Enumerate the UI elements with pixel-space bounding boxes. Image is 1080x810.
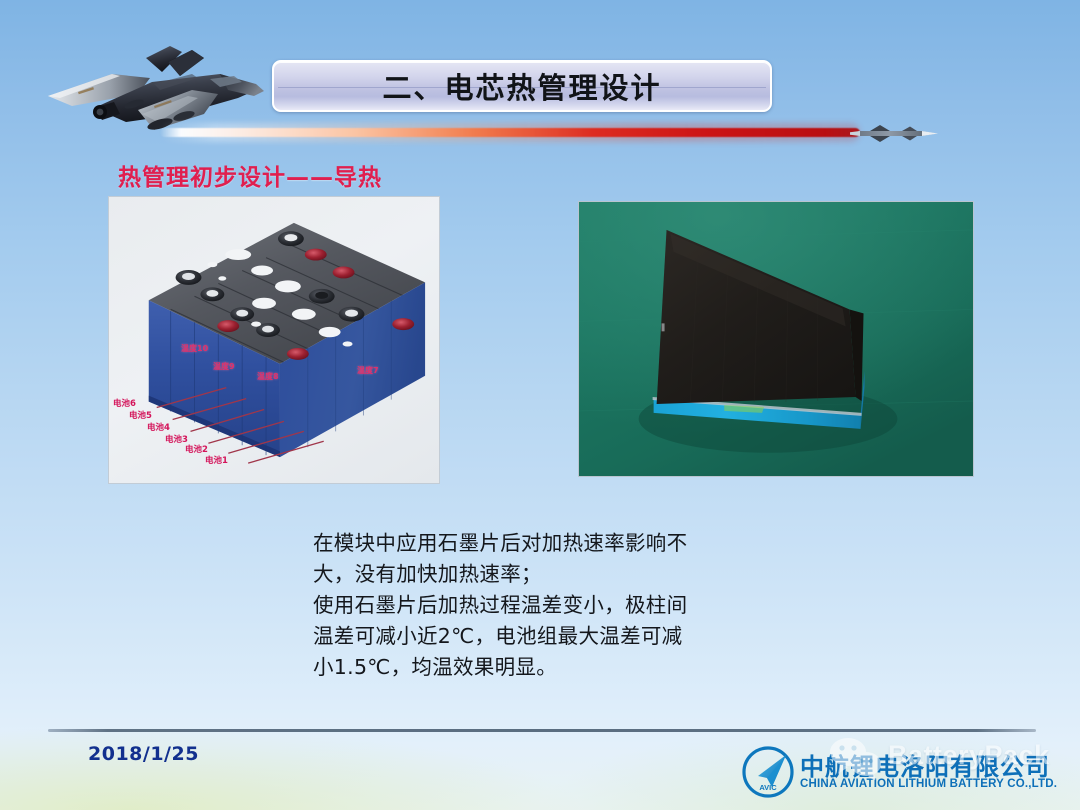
watermark-text: BatteryPack bbox=[888, 740, 1050, 771]
probe-label-7: 温度7 bbox=[357, 365, 379, 376]
slide-title-banner: 二、电芯热管理设计 bbox=[272, 60, 772, 112]
cell-label-5: 电池5 bbox=[129, 409, 152, 421]
body-line-1: 在模块中应用石墨片后对加热速率影响不 bbox=[313, 528, 783, 559]
body-paragraph: 在模块中应用石墨片后对加热速率影响不 大，没有加快加热速率； 使用石墨片后加热过… bbox=[313, 528, 783, 683]
probe-label-10: 温度10 bbox=[181, 343, 208, 354]
graphite-sheet-photo bbox=[578, 201, 974, 477]
cell-label-6: 电池6 bbox=[113, 397, 136, 409]
photo-svg bbox=[579, 202, 973, 477]
probe-label-8: 温度8 bbox=[257, 371, 279, 382]
probe-label-9: 温度9 bbox=[213, 361, 235, 372]
avic-logo-text: AVIC bbox=[759, 783, 777, 792]
cell-label-1: 电池1 bbox=[205, 454, 228, 466]
cell-label-4: 电池4 bbox=[147, 421, 170, 433]
avic-logo-icon: AVIC bbox=[742, 746, 794, 798]
body-line-4: 温差可减小近2℃，电池组最大温差可减 bbox=[313, 621, 783, 652]
missile-trail-graphic bbox=[160, 120, 940, 146]
battery-module-render: 电池6 电池5 电池4 电池3 电池2 电池1 温度10 温度9 温度8 温度7 bbox=[108, 196, 440, 484]
section-subtitle: 热管理初步设计——导热 bbox=[118, 158, 382, 192]
body-line-3: 使用石墨片后加热过程温差变小，极柱间 bbox=[313, 590, 783, 621]
page-title: 二、电芯热管理设计 bbox=[382, 65, 661, 107]
module-svg bbox=[109, 197, 439, 483]
body-line-5: 小1.5℃，均温效果明显。 bbox=[313, 652, 783, 683]
slide-date: 2018/1/25 bbox=[88, 743, 199, 765]
wechat-icon bbox=[826, 736, 886, 780]
body-line-2: 大，没有加快加热速率； bbox=[313, 559, 783, 590]
wechat-watermark: BatteryPack bbox=[826, 736, 1046, 784]
footer-divider bbox=[48, 729, 1036, 732]
